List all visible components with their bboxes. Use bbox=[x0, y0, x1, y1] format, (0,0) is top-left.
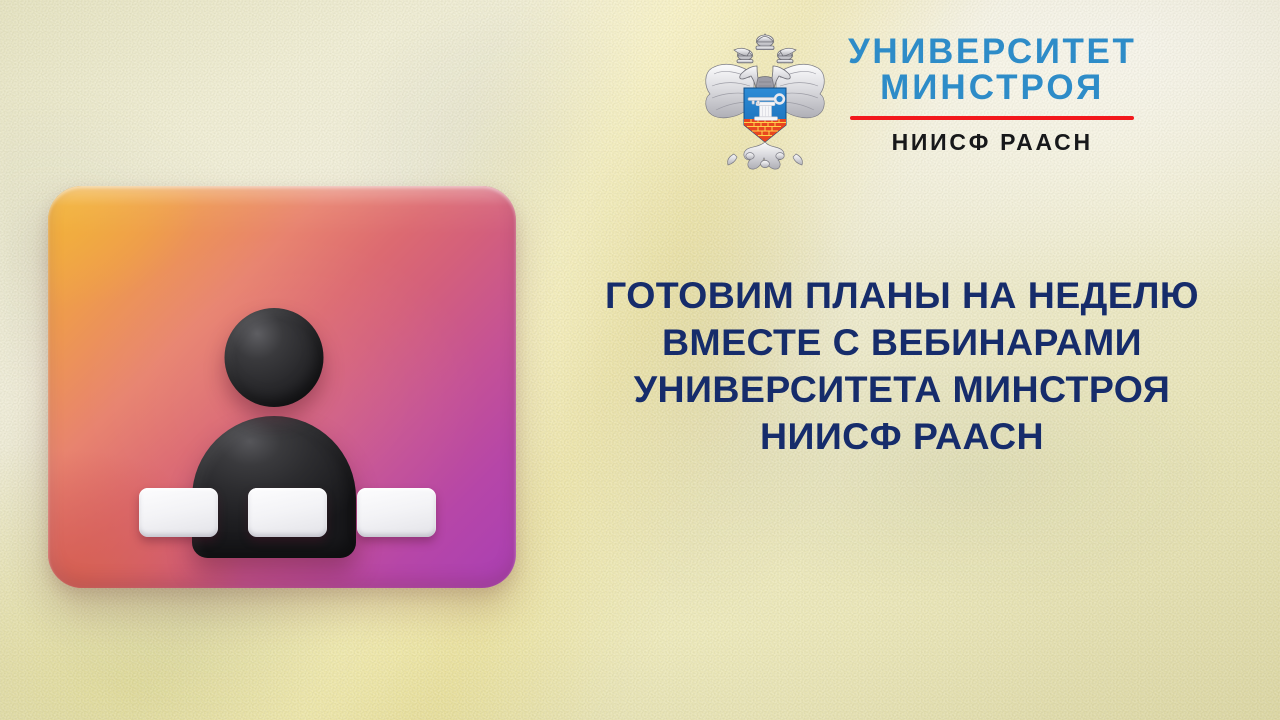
headline-text: ГОТОВИМ ПЛАНЫ НА НЕДЕЛЮ ВМЕСТЕ С ВЕБИНАР… bbox=[524, 272, 1280, 460]
person-head-shape bbox=[224, 308, 323, 407]
slide-canvas: УНИВЕРСИТЕТ МИНСТРОЯ НИИСФ РААСН ГОТОВИМ… bbox=[0, 0, 1280, 720]
russian-double-headed-eagle-emblem-icon bbox=[700, 26, 830, 176]
logo-divider-rule bbox=[850, 116, 1134, 120]
white-block-2 bbox=[248, 488, 327, 537]
headline-line-4: НИИСФ РААСН bbox=[524, 413, 1280, 460]
organization-logo: УНИВЕРСИТЕТ МИНСТРОЯ НИИСФ РААСН bbox=[700, 26, 1120, 176]
headline-line-3: УНИВЕРСИТЕТА МИНСТРОЯ bbox=[524, 366, 1280, 413]
white-block-3 bbox=[357, 488, 436, 537]
logo-line-2: МИНСТРОЯ bbox=[848, 70, 1136, 106]
logo-line-1: УНИВЕРСИТЕТ bbox=[848, 34, 1136, 70]
white-block-1 bbox=[139, 488, 218, 537]
logo-wordmark: УНИВЕРСИТЕТ МИНСТРОЯ НИИСФ РААСН bbox=[848, 26, 1136, 156]
headline-line-2: ВМЕСТЕ С ВЕБИНАРАМИ bbox=[524, 319, 1280, 366]
webinar-presenter-3d-icon bbox=[48, 186, 516, 588]
headline-line-1: ГОТОВИМ ПЛАНЫ НА НЕДЕЛЮ bbox=[524, 272, 1280, 319]
logo-subtitle: НИИСФ РААСН bbox=[848, 129, 1136, 156]
